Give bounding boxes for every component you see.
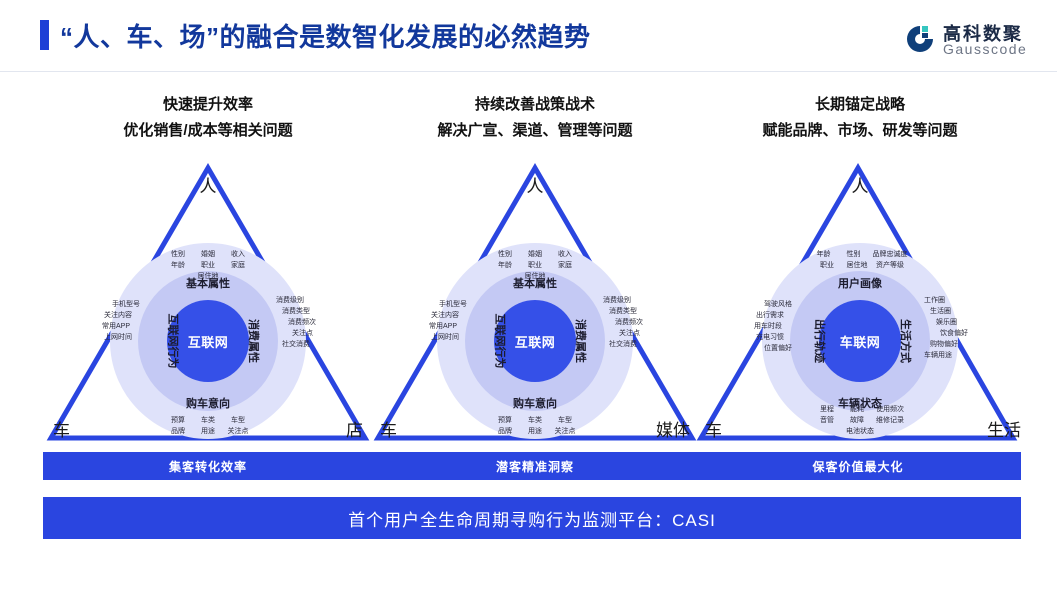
vertex-label-right: 店 bbox=[346, 422, 363, 439]
satellite-label: 车型 bbox=[554, 415, 576, 426]
satellite-label: 故障 bbox=[846, 415, 868, 426]
logo-english-name: Gausscode bbox=[943, 41, 1027, 57]
column-outcome-bar: 保客价值最大化 bbox=[695, 452, 1021, 480]
column-heading: 快速提升效率 优化销售/成本等相关问题 bbox=[43, 92, 373, 144]
pillar-column-3: 长期锚定战略 赋能品牌、市场、研发等问题 人 车 生活 互联网 与现实 重构 车… bbox=[695, 92, 1025, 492]
satellite-row: 关注点 bbox=[619, 328, 643, 339]
satellite-row: 职业居住地资产等级 bbox=[809, 260, 912, 271]
ring-label-right: 消费属性 bbox=[246, 319, 262, 363]
satellite-row: 消费级别 bbox=[276, 295, 316, 306]
ring-label-left: 互联网行为 bbox=[493, 314, 509, 369]
satellite-label: 品牌 bbox=[494, 426, 516, 437]
ring-label-top: 用户画像 bbox=[838, 275, 882, 291]
satellite-group-top: 性别婚姻收入年龄职业家庭居住地 bbox=[163, 249, 253, 282]
satellite-group-left: 手机型号关注内容常用APP上网时间 bbox=[429, 299, 467, 343]
satellite-row: 消费类型 bbox=[609, 306, 643, 317]
satellite-label: 用途 bbox=[197, 426, 219, 437]
satellite-row: 品牌用途关注点 bbox=[163, 426, 253, 437]
satellite-row: 品牌用途关注点 bbox=[490, 426, 580, 437]
satellite-row: 消费频次 bbox=[288, 317, 316, 328]
core-label: 互联网 bbox=[515, 332, 556, 351]
satellite-group-right: 消费级别消费类型消费频次关注点社交消费 bbox=[276, 295, 316, 350]
satellite-label: 年龄 bbox=[813, 249, 835, 260]
column-heading: 持续改善战策战术 解决广宣、渠道、管理等问题 bbox=[370, 92, 700, 144]
satellite-row: 工作圈 bbox=[924, 295, 968, 306]
satellite-row: 社交消费 bbox=[282, 339, 316, 350]
satellite-row: 位置偏好 bbox=[764, 343, 792, 354]
satellite-label: 性别 bbox=[167, 249, 189, 260]
column-heading-line2: 赋能品牌、市场、研发等问题 bbox=[695, 118, 1025, 144]
satellite-row: 社交消费 bbox=[609, 339, 643, 350]
satellite-label: 职业 bbox=[197, 260, 219, 271]
column-heading-line1: 持续改善战策战术 bbox=[475, 96, 595, 113]
satellite-label: 性别 bbox=[494, 249, 516, 260]
satellite-label: 居住地 bbox=[524, 271, 546, 282]
ring-label-left: 互联网行为 bbox=[166, 314, 182, 369]
satellite-group-bottom: 预算车类车型品牌用途关注点 bbox=[163, 415, 253, 437]
vertex-label-top: 人 bbox=[527, 178, 544, 195]
satellite-label: 里程 bbox=[816, 404, 838, 415]
ring-label-bottom: 购车意向 bbox=[186, 395, 230, 411]
satellite-row: 生活圈 bbox=[930, 306, 968, 317]
vertex-label-right: 媒体 bbox=[656, 422, 690, 439]
column-heading-line2: 解决广宣、渠道、管理等问题 bbox=[370, 118, 700, 144]
vertex-label-top: 人 bbox=[852, 178, 869, 195]
satellite-row: 年龄职业家庭 bbox=[490, 260, 580, 271]
pillar-column-2: 持续改善战策战术 解决广宣、渠道、管理等问题 人 车 媒体 互联网 与现实 重构… bbox=[370, 92, 700, 492]
vertex-label-top: 人 bbox=[200, 178, 217, 195]
triangle-diagram: 人 车 媒体 互联网 与现实 重构 互联网 基本属性 消费属性 购车意向 互联网… bbox=[370, 160, 700, 447]
satellite-row: 消费频次 bbox=[615, 317, 643, 328]
satellite-row: 充电习惯 bbox=[756, 332, 792, 343]
satellite-label: 居住地 bbox=[197, 271, 219, 282]
satellite-row: 常用APP bbox=[429, 321, 467, 332]
gausscode-mark-icon bbox=[905, 24, 935, 54]
satellite-label: 资产等级 bbox=[876, 260, 904, 271]
satellite-group-bottom: 预算车类车型品牌用途关注点 bbox=[490, 415, 580, 437]
satellite-row: 手机型号 bbox=[112, 299, 140, 310]
satellite-row: 上网时间 bbox=[431, 332, 467, 343]
vertex-label-left: 车 bbox=[380, 422, 397, 439]
satellite-group-top: 性别婚姻收入年龄职业家庭居住地 bbox=[490, 249, 580, 282]
column-heading: 长期锚定战略 赋能品牌、市场、研发等问题 bbox=[695, 92, 1025, 144]
satellite-label: 品牌忠诚度 bbox=[873, 249, 908, 260]
satellite-row: 购物偏好 bbox=[930, 339, 968, 350]
satellite-row: 年龄性别品牌忠诚度 bbox=[809, 249, 912, 260]
satellite-row: 性别婚姻收入 bbox=[163, 249, 253, 260]
satellite-row: 关注内容 bbox=[104, 310, 140, 321]
vertex-label-left: 车 bbox=[705, 422, 722, 439]
ring-label-right: 生活方式 bbox=[898, 319, 914, 363]
satellite-label: 用途 bbox=[524, 426, 546, 437]
satellite-label: 关注点 bbox=[227, 426, 249, 437]
column-outcome-bar: 潜客精准洞察 bbox=[370, 452, 700, 480]
column-heading-line2: 优化销售/成本等相关问题 bbox=[43, 118, 373, 144]
satellite-row: 消费级别 bbox=[603, 295, 643, 306]
header-divider bbox=[0, 71, 1057, 72]
brand-logo: 高科数聚 Gausscode bbox=[905, 18, 1045, 62]
concentric-rings: 互联网 与现实 重构 互联网 基本属性 消费属性 购车意向 互联网行为 性别婚姻… bbox=[110, 243, 306, 439]
satellite-label: 预算 bbox=[167, 415, 189, 426]
core-label: 互联网 bbox=[188, 332, 229, 351]
column-outcome-bar: 集客转化效率 bbox=[43, 452, 373, 480]
title-bullet-icon bbox=[40, 20, 49, 50]
triangle-diagram: 人 车 生活 互联网 与现实 重构 车联网 用户画像 生活方式 车辆状态 出行轨… bbox=[695, 160, 1025, 447]
concentric-rings: 互联网 与现实 重构 车联网 用户画像 生活方式 车辆状态 出行轨迹 年龄性别品… bbox=[762, 243, 958, 439]
satellite-row: 车辆用途 bbox=[924, 350, 968, 361]
satellite-row: 常用APP bbox=[102, 321, 140, 332]
satellite-row: 性别婚姻收入 bbox=[490, 249, 580, 260]
satellite-row: 年龄职业家庭 bbox=[163, 260, 253, 271]
satellite-label: 居住地 bbox=[846, 260, 868, 271]
satellite-label: 车类 bbox=[524, 415, 546, 426]
satellite-row: 驾驶风格 bbox=[764, 299, 792, 310]
vertex-label-right: 生活 bbox=[987, 422, 1021, 439]
core-label: 车联网 bbox=[840, 332, 881, 351]
column-heading-line1: 长期锚定战略 bbox=[815, 96, 905, 113]
satellite-group-left: 驾驶风格出行需求用车时段充电习惯位置偏好 bbox=[754, 299, 792, 354]
satellite-row: 电池状态 bbox=[812, 426, 908, 437]
page-title: “人、车、场”的融合是数智化发展的必然趋势 bbox=[60, 17, 591, 54]
satellite-row: 音管故障维修记录 bbox=[812, 415, 908, 426]
platform-banner: 首个用户全生命周期寻购行为监测平台：CASI bbox=[43, 497, 1021, 539]
satellite-row: 饮食偏好 bbox=[940, 328, 968, 339]
satellite-row: 关注内容 bbox=[431, 310, 467, 321]
satellite-label: 预算 bbox=[494, 415, 516, 426]
satellite-row: 预算车类车型 bbox=[490, 415, 580, 426]
satellite-group-left: 手机型号关注内容常用APP上网时间 bbox=[102, 299, 140, 343]
satellite-label: 音管 bbox=[816, 415, 838, 426]
pillar-column-1: 快速提升效率 优化销售/成本等相关问题 人 车 店 互联网 与现实 重构 互联网… bbox=[43, 92, 373, 492]
satellite-label: 维修记录 bbox=[876, 415, 904, 426]
satellite-row: 居住地 bbox=[163, 271, 253, 282]
satellite-label: 年龄 bbox=[167, 260, 189, 271]
page-header: “人、车、场”的融合是数智化发展的必然趋势 高科数聚 Gausscode bbox=[0, 0, 1057, 72]
ring-label-right: 消费属性 bbox=[573, 319, 589, 363]
satellite-row: 消费类型 bbox=[282, 306, 316, 317]
satellite-label: 车型 bbox=[227, 415, 249, 426]
satellite-row: 预算车类车型 bbox=[163, 415, 253, 426]
satellite-label: 家庭 bbox=[227, 260, 249, 271]
column-heading-line1: 快速提升效率 bbox=[163, 96, 253, 113]
concentric-rings: 互联网 与现实 重构 互联网 基本属性 消费属性 购车意向 互联网行为 性别婚姻… bbox=[437, 243, 633, 439]
satellite-row: 居住地 bbox=[490, 271, 580, 282]
satellite-row: 上网时间 bbox=[104, 332, 140, 343]
satellite-group-bottom: 里程能耗使用频次音管故障维修记录电池状态 bbox=[812, 404, 908, 437]
satellite-row: 出行需求 bbox=[756, 310, 792, 321]
triangle-diagram: 人 车 店 互联网 与现实 重构 互联网 基本属性 消费属性 购车意向 互联网行… bbox=[43, 160, 373, 447]
ring-core: 车联网 bbox=[819, 300, 901, 382]
satellite-row: 用车时段 bbox=[754, 321, 792, 332]
satellite-label: 性别 bbox=[843, 249, 865, 260]
ring-label-bottom: 购车意向 bbox=[513, 395, 557, 411]
vertex-label-left: 车 bbox=[53, 422, 70, 439]
satellite-row: 里程能耗使用频次 bbox=[812, 404, 908, 415]
satellite-label: 年龄 bbox=[494, 260, 516, 271]
satellite-label: 婚姻 bbox=[524, 249, 546, 260]
satellite-row: 关注点 bbox=[292, 328, 316, 339]
satellite-label: 收入 bbox=[227, 249, 249, 260]
satellite-label: 能耗 bbox=[846, 404, 868, 415]
satellite-row: 手机型号 bbox=[439, 299, 467, 310]
satellite-group-right: 消费级别消费类型消费频次关注点社交消费 bbox=[603, 295, 643, 350]
satellite-group-right: 工作圈生活圈娱乐圈饮食偏好购物偏好车辆用途 bbox=[924, 295, 968, 361]
ring-label-left: 出行轨迹 bbox=[812, 319, 828, 363]
satellite-label: 关注点 bbox=[554, 426, 576, 437]
satellite-label: 电池状态 bbox=[846, 426, 874, 437]
satellite-label: 职业 bbox=[816, 260, 838, 271]
satellite-label: 家庭 bbox=[554, 260, 576, 271]
satellite-label: 职业 bbox=[524, 260, 546, 271]
satellite-group-top: 年龄性别品牌忠诚度职业居住地资产等级 bbox=[809, 249, 912, 271]
satellite-row: 娱乐圈 bbox=[936, 317, 968, 328]
satellite-label: 收入 bbox=[554, 249, 576, 260]
satellite-label: 婚姻 bbox=[197, 249, 219, 260]
satellite-label: 品牌 bbox=[167, 426, 189, 437]
satellite-label: 车类 bbox=[197, 415, 219, 426]
satellite-label: 使用频次 bbox=[876, 404, 904, 415]
